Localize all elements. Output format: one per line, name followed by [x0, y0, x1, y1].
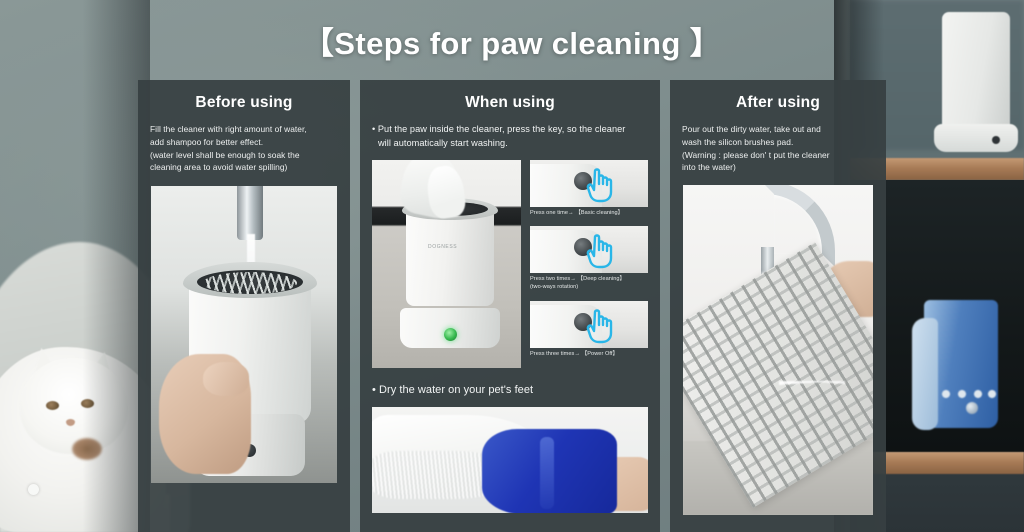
drying-paw-photo — [372, 407, 648, 513]
when-bullet1-line-1: • Put the paw inside the cleaner, press … — [372, 123, 648, 137]
press-step-2-caption: Press two times→ 【Deep cleaning】 (two-wa… — [530, 276, 648, 292]
press-step-2-caption-line-1: Press two times→ 【Deep cleaning】 — [530, 276, 648, 284]
blue-humidifier-indicator-lights — [940, 390, 998, 398]
before-line-1: Fill the cleaner with right amount of wa… — [150, 123, 338, 136]
press-step-3-caption: Press three times→ 【Power Off】 — [530, 351, 648, 359]
press-step-1-photo — [530, 160, 648, 207]
panel-when-using-heading: When using — [372, 94, 648, 112]
after-line-4: into the water) — [682, 161, 874, 174]
when-using-bullet-2: • Dry the water on your pet's feet — [372, 382, 648, 399]
human-thumb — [203, 362, 249, 396]
before-line-4: cleaning area to avoid water spilling) — [150, 161, 338, 174]
press-step-2-photo — [530, 226, 648, 273]
before-line-2: add shampoo for better effect. — [150, 136, 338, 149]
panel-after-using-body: Pour out the dirty water, take out and w… — [682, 123, 874, 174]
white-humidifier-port — [992, 136, 1000, 144]
panel-after-using-heading: After using — [682, 94, 874, 112]
hand-press-icon — [582, 233, 622, 271]
press-instruction-list: Press one time→ 【Basic cleaning】 — [530, 160, 648, 368]
press-step-1: Press one time→ 【Basic cleaning】 — [530, 160, 648, 218]
before-using-photo — [151, 186, 337, 483]
blue-towel — [482, 429, 617, 513]
page-title: 【Steps for paw cleaning 】 — [0, 18, 1024, 63]
press-step-2: Press two times→ 【Deep cleaning】 (two-wa… — [530, 226, 648, 292]
when-using-bullet-1: • Put the paw inside the cleaner, press … — [372, 123, 648, 151]
press-step-3: Press three times→ 【Power Off】 — [530, 301, 648, 359]
when-using-main-photo: DOGNESS — [372, 160, 521, 368]
panel-after-using: After using Pour out the dirty water, ta… — [670, 80, 886, 532]
device-brand-mark: DOGNESS — [428, 244, 457, 250]
left-vignette — [0, 0, 150, 532]
press-step-1-caption-line-1: Press one time→ 【Basic cleaning】 — [530, 210, 648, 218]
panel-before-using-heading: Before using — [150, 94, 338, 112]
hand-press-icon — [582, 167, 622, 205]
device-power-button-led — [444, 328, 457, 341]
after-line-1: Pour out the dirty water, take out and — [682, 123, 874, 136]
after-using-photo — [683, 185, 873, 515]
after-line-2: wash the silicon brushes pad. — [682, 136, 874, 149]
water-splash — [779, 381, 845, 501]
when-bullet2-line-1: • Dry the water on your pet's feet — [372, 382, 648, 399]
press-step-1-caption: Press one time→ 【Basic cleaning】 — [530, 210, 648, 218]
steps-panel-group: Before using Fill the cleaner with right… — [138, 80, 886, 532]
press-step-3-photo — [530, 301, 648, 348]
before-line-3: (water level shall be enough to soak the — [150, 149, 338, 162]
panel-when-using: When using • Put the paw inside the clea… — [360, 80, 660, 532]
blue-humidifier-knob — [966, 402, 978, 414]
press-step-2-caption-line-2: (two-ways rotation) — [530, 284, 648, 292]
press-step-3-caption-line-1: Press three times→ 【Power Off】 — [530, 351, 648, 359]
when-bullet1-line-2: will automatically start washing. — [372, 137, 648, 151]
panel-before-using-body: Fill the cleaner with right amount of wa… — [150, 123, 338, 174]
faucet-icon — [237, 186, 263, 240]
panel-before-using: Before using Fill the cleaner with right… — [138, 80, 350, 532]
blue-humidifier — [924, 300, 998, 428]
when-using-media-row: DOGNESS Press — [372, 160, 648, 368]
white-humidifier-button — [28, 484, 39, 495]
after-line-3: (Warning : please don' t put the cleaner — [682, 149, 874, 162]
hand-press-icon — [582, 308, 622, 346]
silicone-bristles — [203, 272, 297, 294]
